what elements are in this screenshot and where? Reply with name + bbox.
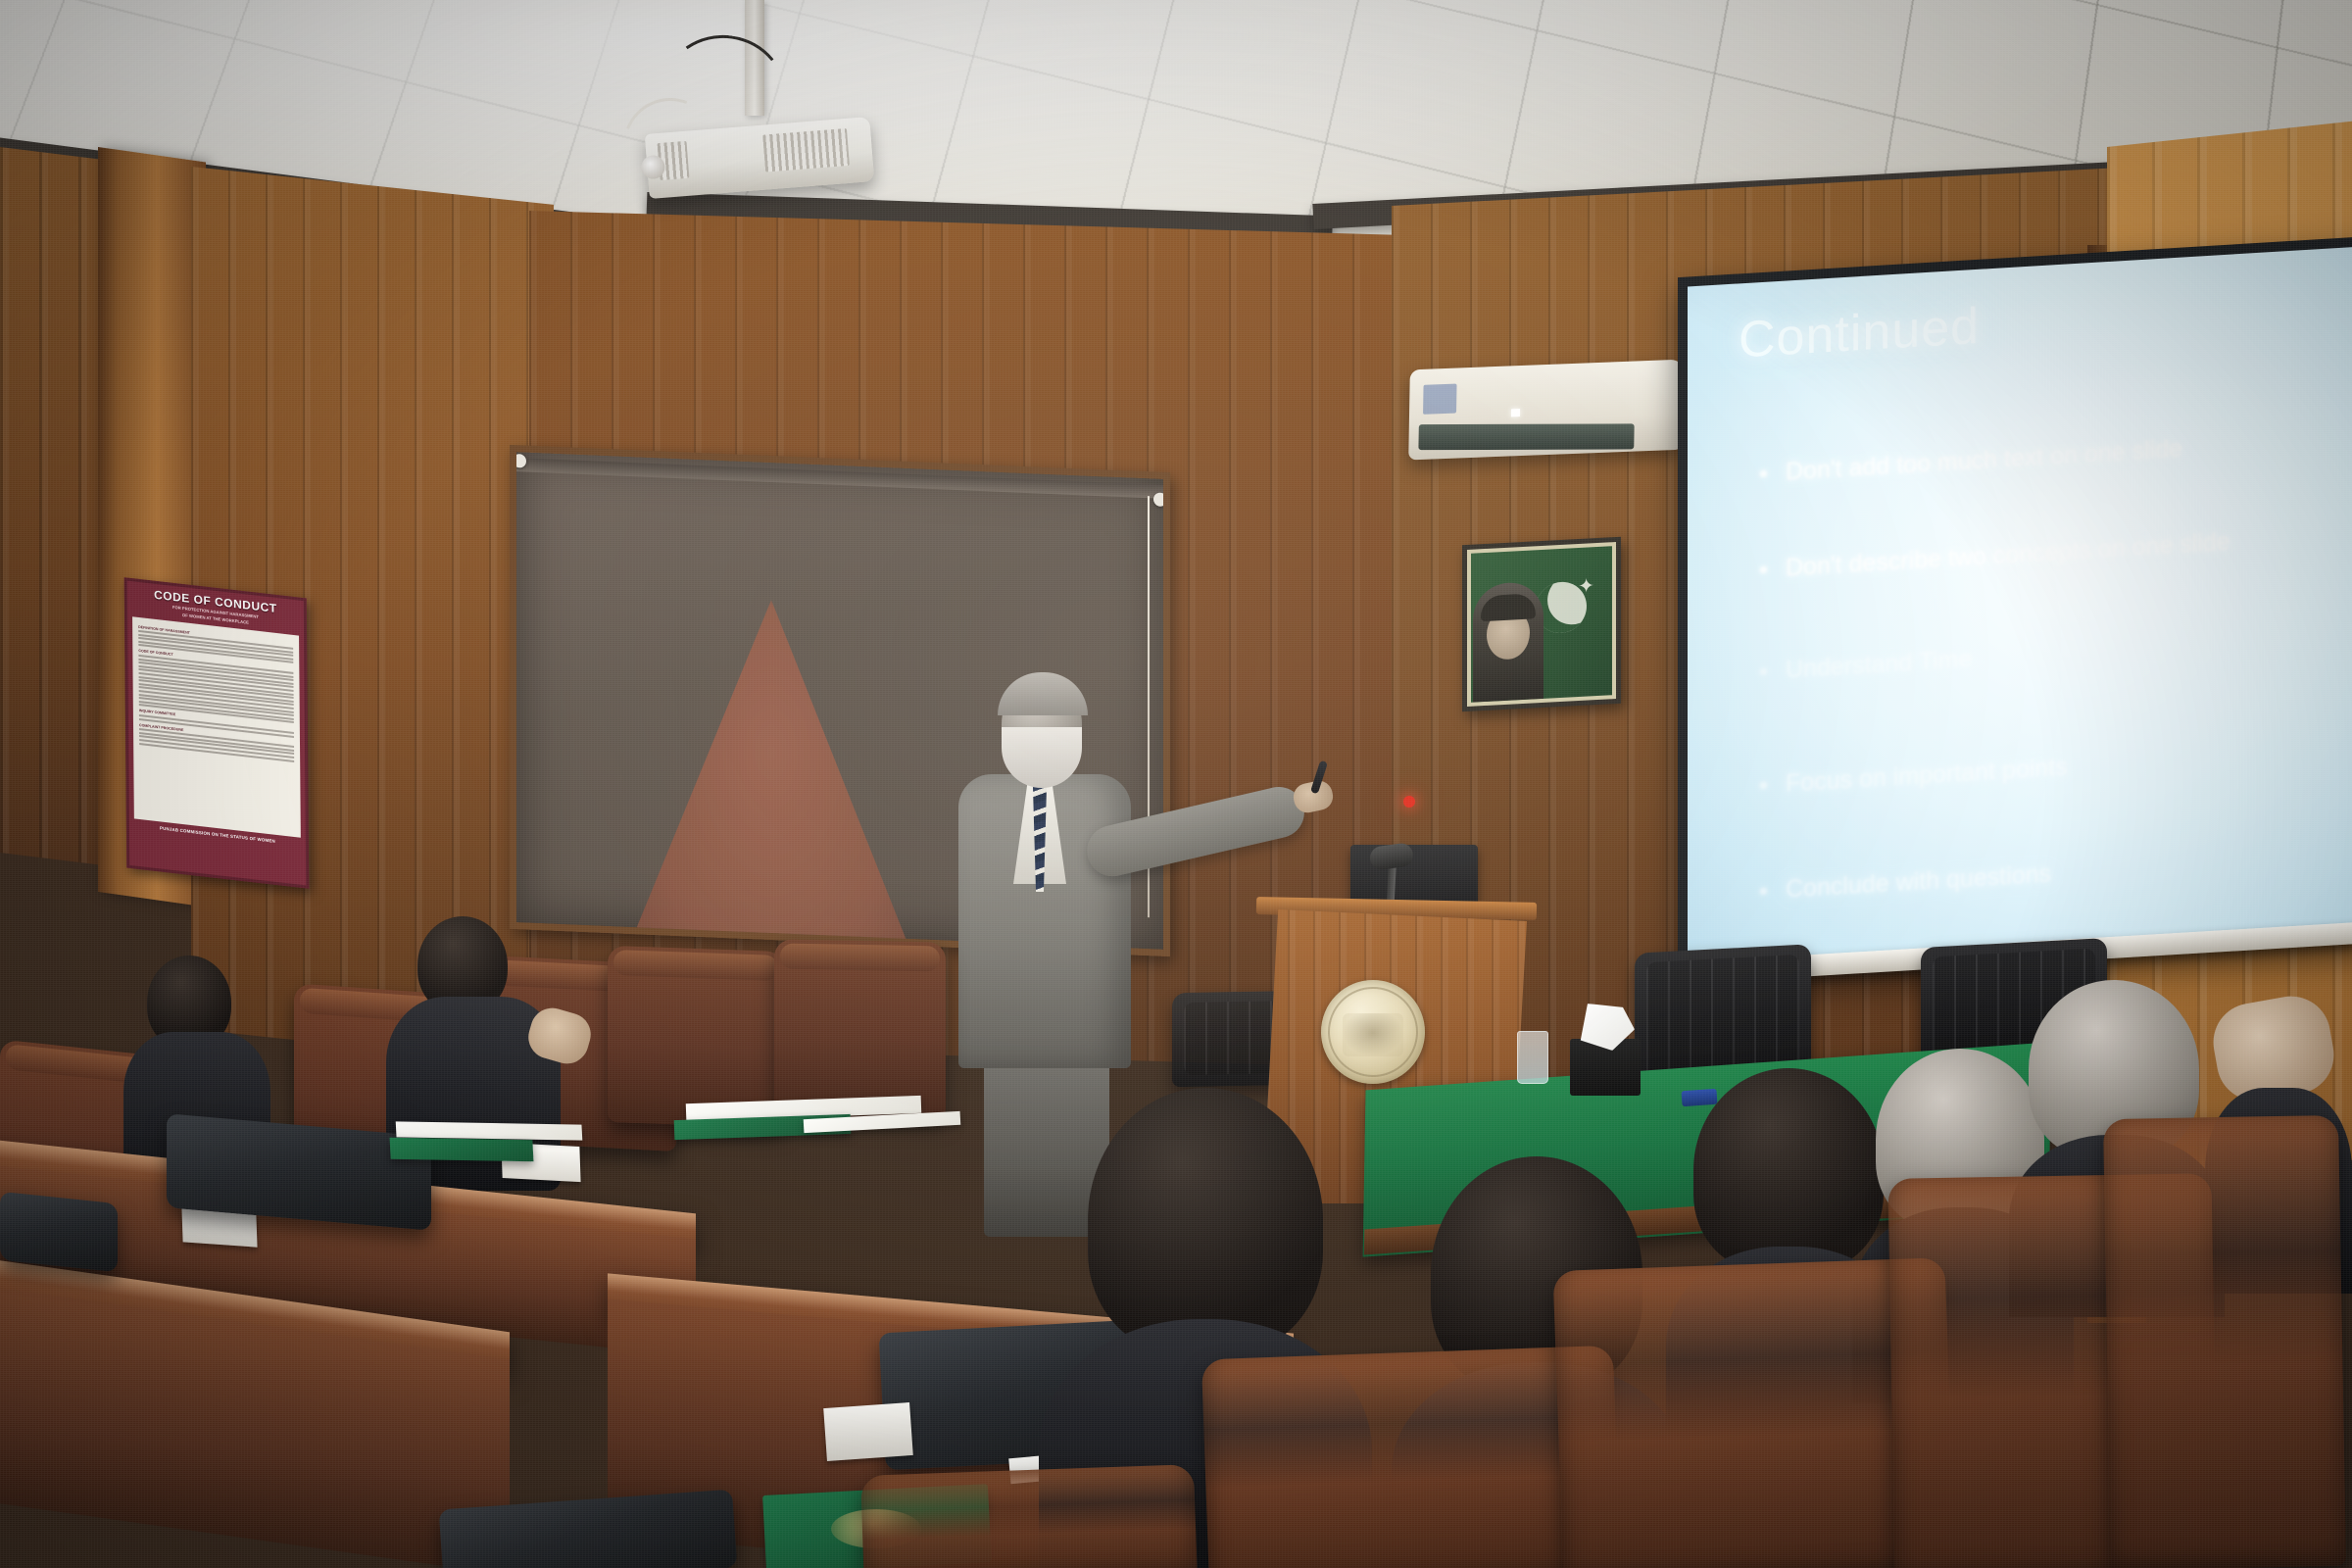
code-of-conduct-poster: CODE OF CONDUCT FOR PROTECTION AGAINST H… <box>124 577 310 889</box>
nameplate-3 <box>823 1402 913 1461</box>
chair-foreground-4[interactable] <box>2103 1115 2346 1568</box>
ac-brand-label <box>1423 384 1457 415</box>
attendee-fg-1-head <box>1088 1088 1323 1352</box>
slide-bullet-5: Conclude with questions <box>1752 842 2338 906</box>
ac-air-vent <box>1418 423 1634 450</box>
flag-star-icon: ✦ <box>1578 576 1594 597</box>
slide-title: Continued <box>1739 297 1980 370</box>
portrait-mat: ✦ <box>1467 542 1616 707</box>
slide-bullet-2: Don't describe two concepts on one slide <box>1752 520 2338 585</box>
chair-foreground-5[interactable] <box>860 1464 1198 1568</box>
presentation-slide: Continued Don't add too much text on one… <box>1688 247 2352 973</box>
portrait-image: ✦ <box>1471 546 1612 703</box>
chair-brown-mid-3[interactable] <box>774 939 946 1118</box>
recording-led <box>1403 796 1415 808</box>
slide-bullet-4: Focus on important points <box>1752 736 2338 801</box>
podium-seal-emblem <box>1321 980 1425 1084</box>
slide-bullet-list: Don't add too much text on one slide Don… <box>1752 424 2338 906</box>
portrait-cap <box>1481 593 1536 621</box>
ac-indicator-light <box>1511 409 1520 416</box>
portrait-figure <box>1473 581 1543 703</box>
split-ac-unit <box>1408 360 1685 461</box>
framed-portrait: ✦ <box>1462 537 1621 711</box>
green-folder-1[interactable] <box>390 1138 534 1162</box>
presenter-hair <box>998 672 1088 715</box>
slide-bullet-3: Understand Time <box>1752 622 2338 687</box>
board-knob-left[interactable] <box>513 454 526 468</box>
water-glass[interactable] <box>1517 1031 1548 1084</box>
poster-body: DEFINITION OF HARASSMENT CODE OF CONDUCT… <box>132 616 301 838</box>
laptop-bag-left[interactable] <box>0 1192 118 1273</box>
board-knob-right[interactable] <box>1153 492 1167 507</box>
projector-vent-right <box>762 128 850 172</box>
board-stain <box>565 591 977 956</box>
projection-screen: Continued Don't add too much text on one… <box>1678 236 2352 983</box>
slide-bullet-1: Don't add too much text on one slide <box>1752 424 2338 489</box>
conference-room-photo: CODE OF CONDUCT FOR PROTECTION AGAINST H… <box>0 0 2352 1568</box>
